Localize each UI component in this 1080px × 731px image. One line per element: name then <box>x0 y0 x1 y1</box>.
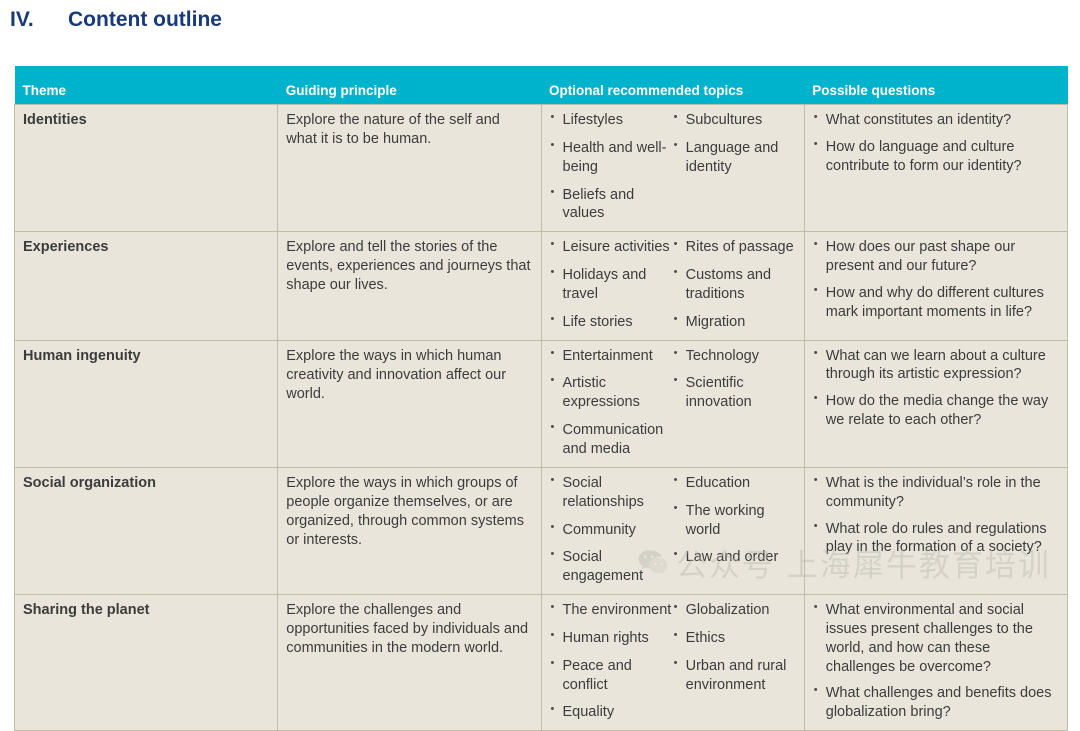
list-item: Equality <box>550 703 673 722</box>
bullet-list: What constitutes an identity?How do lang… <box>813 111 1059 176</box>
table-row: Sharing the planetExplore the challenges… <box>15 595 1068 731</box>
guiding-principle-cell: Explore and tell the stories of the even… <box>278 232 541 340</box>
list-item: Lifestyles <box>550 111 673 130</box>
guiding-principle-text: Explore the challenges and opportunities… <box>286 601 532 658</box>
bullet-list: How does our past shape our present and … <box>813 238 1059 321</box>
possible-questions-cell: What is the individual’s role in the com… <box>804 467 1067 594</box>
topics-column-left: LifestylesHealth and well-beingBeliefs a… <box>550 111 673 223</box>
bullet-list: Leisure activitiesHolidays and travelLif… <box>550 238 673 331</box>
list-item: Beliefs and values <box>550 186 673 224</box>
theme-cell: Identities <box>15 105 278 232</box>
list-item: The working world <box>673 502 796 540</box>
theme-cell: Human ingenuity <box>15 340 278 467</box>
list-item: Entertainment <box>550 347 673 366</box>
list-item: Rites of passage <box>673 238 796 257</box>
topics-columns: The environmentHuman rightsPeace and con… <box>550 601 796 722</box>
list-item: Peace and conflict <box>550 657 673 695</box>
bullet-list: GlobalizationEthicsUrban and rural envir… <box>673 601 796 694</box>
list-item: Globalization <box>673 601 796 620</box>
list-item: Leisure activities <box>550 238 673 257</box>
column-header-optional-topics: Optional recommended topics <box>541 66 804 105</box>
bullet-list: What can we learn about a culture throug… <box>813 347 1059 430</box>
list-item: Scientific innovation <box>673 374 796 412</box>
optional-topics-cell: Leisure activitiesHolidays and travelLif… <box>541 232 804 340</box>
topics-column-right: Rites of passageCustoms and traditionsMi… <box>673 238 796 331</box>
list-item: How do language and culture contribute t… <box>813 138 1059 176</box>
table-body: IdentitiesExplore the nature of the self… <box>15 105 1068 731</box>
list-item: Human rights <box>550 629 673 648</box>
guiding-principle-text: Explore and tell the stories of the even… <box>286 238 532 295</box>
page-title-numeral: IV. <box>10 8 68 32</box>
guiding-principle-cell: Explore the challenges and opportunities… <box>278 595 541 731</box>
list-item: What environmental and social issues pre… <box>813 601 1059 676</box>
topics-columns: LifestylesHealth and well-beingBeliefs a… <box>550 111 796 223</box>
topics-column-right: GlobalizationEthicsUrban and rural envir… <box>673 601 796 722</box>
list-item: Artistic expressions <box>550 374 673 412</box>
list-item: What is the individual’s role in the com… <box>813 474 1059 512</box>
list-item: Urban and rural environment <box>673 657 796 695</box>
possible-questions-cell: What environmental and social issues pre… <box>804 595 1067 731</box>
bullet-list: EntertainmentArtistic expressionsCommuni… <box>550 347 673 459</box>
theme-cell: Experiences <box>15 232 278 340</box>
guiding-principle-text: Explore the nature of the self and what … <box>286 111 532 149</box>
theme-cell: Social organization <box>15 467 278 594</box>
optional-topics-cell: The environmentHuman rightsPeace and con… <box>541 595 804 731</box>
optional-topics-cell: Social relationshipsCommunitySocial enga… <box>541 467 804 594</box>
column-header-guiding-principle: Guiding principle <box>278 66 541 105</box>
list-item: What constitutes an identity? <box>813 111 1059 130</box>
column-header-possible-questions: Possible questions <box>804 66 1067 105</box>
list-item: Ethics <box>673 629 796 648</box>
possible-questions-cell: What can we learn about a culture throug… <box>804 340 1067 467</box>
topics-column-right: SubculturesLanguage and identity <box>673 111 796 223</box>
guiding-principle-cell: Explore the ways in which human creativi… <box>278 340 541 467</box>
optional-topics-cell: LifestylesHealth and well-beingBeliefs a… <box>541 105 804 232</box>
list-item: Holidays and travel <box>550 266 673 304</box>
list-item: Migration <box>673 313 796 332</box>
topics-column-right: TechnologyScientific innovation <box>673 347 796 459</box>
list-item: How do the media change the way we relat… <box>813 392 1059 430</box>
list-item: Social relationships <box>550 474 673 512</box>
list-item: What challenges and benefits does global… <box>813 684 1059 722</box>
list-item: Law and order <box>673 548 796 567</box>
page-title-text: Content outline <box>68 8 222 32</box>
topics-column-right: EducationThe working worldLaw and order <box>673 474 796 586</box>
theme-cell: Sharing the planet <box>15 595 278 731</box>
bullet-list: Rites of passageCustoms and traditionsMi… <box>673 238 796 331</box>
table-header: Theme Guiding principle Optional recomme… <box>15 66 1068 105</box>
topics-column-left: Social relationshipsCommunitySocial enga… <box>550 474 673 586</box>
list-item: What role do rules and regulations play … <box>813 520 1059 558</box>
bullet-list: What is the individual’s role in the com… <box>813 474 1059 557</box>
guiding-principle-text: Explore the ways in which human creativi… <box>286 347 532 404</box>
bullet-list: What environmental and social issues pre… <box>813 601 1059 722</box>
bullet-list: SubculturesLanguage and identity <box>673 111 796 177</box>
table-row: IdentitiesExplore the nature of the self… <box>15 105 1068 232</box>
table-row: Social organizationExplore the ways in w… <box>15 467 1068 594</box>
table-row: Human ingenuityExplore the ways in which… <box>15 340 1068 467</box>
bullet-list: Social relationshipsCommunitySocial enga… <box>550 474 673 586</box>
table-header-row: Theme Guiding principle Optional recomme… <box>15 66 1068 105</box>
list-item: Communication and media <box>550 421 673 459</box>
list-item: How and why do different cultures mark i… <box>813 284 1059 322</box>
topics-column-left: Leisure activitiesHolidays and travelLif… <box>550 238 673 331</box>
list-item: Subcultures <box>673 111 796 130</box>
possible-questions-cell: What constitutes an identity?How do lang… <box>804 105 1067 232</box>
list-item: Language and identity <box>673 139 796 177</box>
list-item: How does our past shape our present and … <box>813 238 1059 276</box>
topics-column-left: EntertainmentArtistic expressionsCommuni… <box>550 347 673 459</box>
page-title: IV. Content outline <box>0 0 1080 36</box>
list-item: Technology <box>673 347 796 366</box>
list-item: Life stories <box>550 313 673 332</box>
list-item: Community <box>550 521 673 540</box>
table-row: ExperiencesExplore and tell the stories … <box>15 232 1068 340</box>
guiding-principle-cell: Explore the nature of the self and what … <box>278 105 541 232</box>
topics-columns: Leisure activitiesHolidays and travelLif… <box>550 238 796 331</box>
bullet-list: TechnologyScientific innovation <box>673 347 796 413</box>
list-item: Customs and traditions <box>673 266 796 304</box>
guiding-principle-cell: Explore the ways in which groups of peop… <box>278 467 541 594</box>
bullet-list: LifestylesHealth and well-beingBeliefs a… <box>550 111 673 223</box>
content-outline-table: Theme Guiding principle Optional recomme… <box>14 66 1068 731</box>
possible-questions-cell: How does our past shape our present and … <box>804 232 1067 340</box>
bullet-list: The environmentHuman rightsPeace and con… <box>550 601 673 722</box>
column-header-theme: Theme <box>15 66 278 105</box>
list-item: What can we learn about a culture throug… <box>813 347 1059 385</box>
guiding-principle-text: Explore the ways in which groups of peop… <box>286 474 532 551</box>
bullet-list: EducationThe working worldLaw and order <box>673 474 796 567</box>
list-item: The environment <box>550 601 673 620</box>
list-item: Social engagement <box>550 548 673 586</box>
topics-columns: Social relationshipsCommunitySocial enga… <box>550 474 796 586</box>
list-item: Education <box>673 474 796 493</box>
optional-topics-cell: EntertainmentArtistic expressionsCommuni… <box>541 340 804 467</box>
list-item: Health and well-being <box>550 139 673 177</box>
topics-columns: EntertainmentArtistic expressionsCommuni… <box>550 347 796 459</box>
topics-column-left: The environmentHuman rightsPeace and con… <box>550 601 673 722</box>
